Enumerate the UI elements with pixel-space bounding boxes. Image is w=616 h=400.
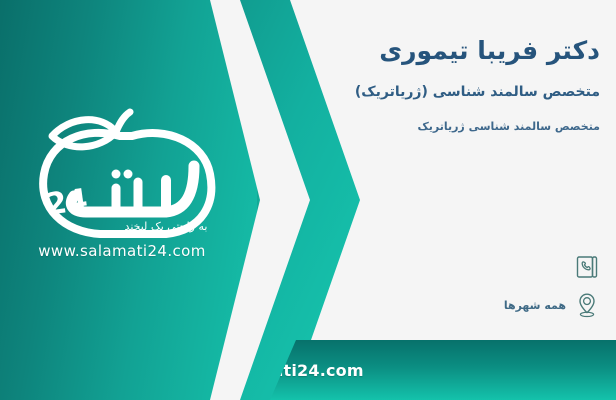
- contact-row-location[interactable]: همه شهرها: [300, 286, 600, 324]
- footer-site-url[interactable]: salamati24.com: [218, 361, 364, 380]
- logo-website-url: www.salamati24.com: [38, 242, 206, 260]
- phone-book-icon: [574, 252, 600, 282]
- doctor-profile-card: 24 به راحتی یک لبخند www.salamati24.com …: [0, 0, 616, 400]
- salamati24-logo-icon: 24 به راحتی یک لبخند: [16, 108, 228, 246]
- doctor-specialty-sub: متخصص سالمند شناسی ژریاتریک: [280, 119, 600, 136]
- doctor-specialty: متخصص سالمند شناسی (ژریاتریک): [280, 82, 600, 103]
- contact-row-phone[interactable]: [300, 248, 600, 286]
- svg-text:24: 24: [44, 182, 90, 222]
- contact-location-label: همه شهرها: [504, 299, 566, 312]
- logo-tagline-text: به راحتی یک لبخند: [125, 220, 208, 233]
- location-pin-icon: [574, 290, 600, 320]
- doctor-name: دکتر فریبا تیموری: [280, 34, 600, 68]
- brand-logo: 24 به راحتی یک لبخند www.salamati24.com: [14, 108, 230, 268]
- contact-info-block: همه شهرها: [300, 248, 600, 324]
- doctor-info: دکتر فریبا تیموری متخصص سالمند شناسی (ژر…: [280, 34, 600, 135]
